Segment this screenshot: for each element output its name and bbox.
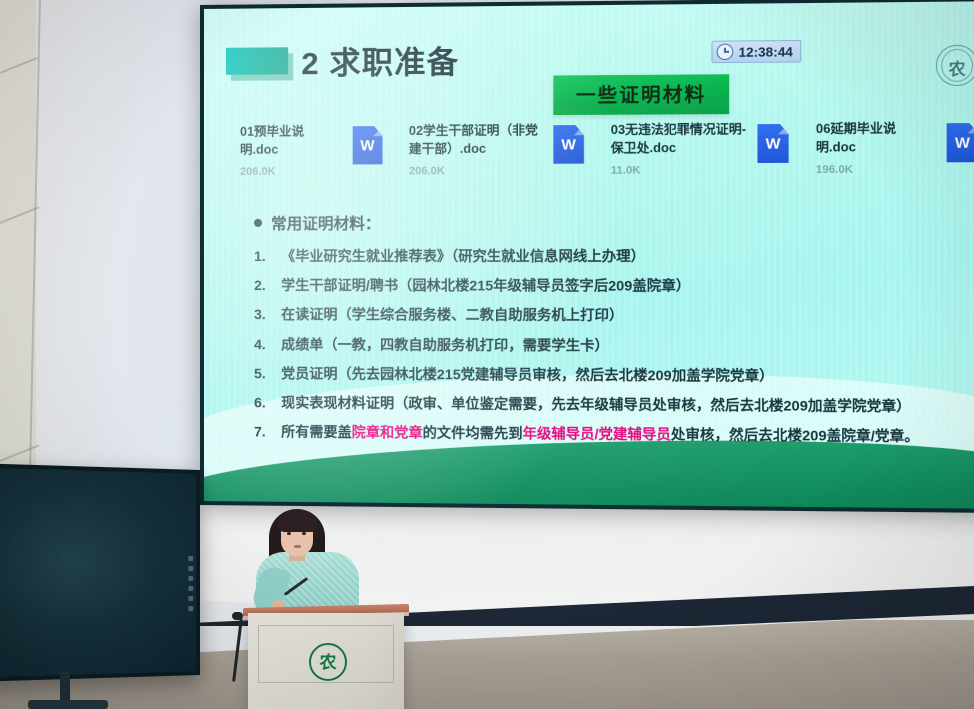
highlighted-text: 院章和党章	[352, 424, 423, 441]
list-item: 6. 现实表现材料证明（政审、单位鉴定需要，先去年级辅导员处审核，然后去北楼20…	[254, 393, 974, 416]
wall-panel-upper	[36, 0, 206, 540]
slide-title-row: 2 求职准备	[226, 37, 459, 84]
list-item: 7. 所有需要盖院章和党章的文件均需先到年级辅导员/党建辅导员处审核，然后去北楼…	[254, 422, 974, 446]
university-seal-glyph: 农	[941, 49, 973, 82]
word-doc-icon: W	[757, 124, 788, 163]
attachment-size: 196.0K	[816, 164, 936, 177]
list-item-number: 4.	[254, 335, 270, 353]
bullet-dot-icon	[254, 219, 262, 227]
list-item-text: 成绩单（一教，四教自助服务机打印，需要学生卡）	[281, 335, 609, 355]
list-item: 5. 党员证明（先去园林北楼215党建辅导员审核，然后去北楼209加盖学院党章）	[254, 364, 974, 386]
wall-monitor-screen	[0, 468, 196, 678]
word-doc-icon: W	[947, 123, 974, 162]
attachment-item[interactable]: 03无违法犯罪情况证明-保卫处.doc 11.0K W	[611, 116, 789, 177]
projection-screen: 2 求职准备 12:38:44 一些证明材料 农 01预毕业说明.doc	[200, 0, 974, 513]
section-number: 2	[301, 46, 319, 81]
university-seal-icon: 农	[936, 45, 974, 87]
attachment-name: 02学生干部证明（非党建干部）.doc	[409, 121, 543, 158]
presenter-fringe	[278, 510, 317, 532]
attachment-item[interactable]: 02学生干部证明（非党建干部）.doc 206.0K W	[409, 117, 584, 178]
list-item-text: 在读证明（学生综合服务楼、二教自助服务机上打印）	[281, 306, 623, 325]
section-banner: 一些证明材料	[553, 74, 729, 115]
word-doc-letter: W	[360, 137, 374, 154]
podium: 农	[248, 613, 404, 709]
list-item: 4. 成绩单（一教，四教自助服务机打印，需要学生卡）	[254, 335, 974, 356]
podium-university-seal-icon: 农	[309, 643, 347, 681]
presenter-eye	[287, 532, 291, 535]
list-item-number: 7.	[254, 422, 270, 440]
word-doc-icon: W	[553, 125, 584, 164]
list-item-number: 3.	[254, 305, 270, 323]
list-item: 1. 《毕业研究生就业推荐表》（研究生就业信息网线上办理）	[254, 247, 974, 266]
bullet-heading: 常用证明材料：	[254, 211, 974, 234]
list-item: 2. 学生干部证明/聘书（园林北楼215年级辅导员签字后209盖院章）	[254, 276, 974, 295]
list-item-text: 学生干部证明/聘书（园林北楼215年级辅导员签字后209盖院章）	[281, 276, 690, 295]
clock-time: 12:38:44	[739, 44, 793, 60]
attachment-name: 03无违法犯罪情况证明-保卫处.doc	[611, 120, 747, 158]
classroom-photo-scene: 2 求职准备 12:38:44 一些证明材料 农 01预毕业说明.doc	[0, 0, 974, 709]
list-item-text-run: 所有需要盖	[281, 424, 352, 441]
word-doc-letter: W	[955, 134, 970, 152]
monitor-base	[28, 700, 108, 709]
wall-monitor	[0, 463, 200, 681]
attachment-size: 11.0K	[611, 164, 747, 177]
list-item-text: 《毕业研究生就业推荐表》（研究生就业信息网线上办理）	[281, 247, 645, 266]
attachment-name: 06延期毕业说明.doc	[816, 119, 936, 157]
monitor-button-strip[interactable]	[188, 556, 193, 611]
list-item-text: 现实表现材料证明（政审、单位鉴定需要，先去年级辅导员处审核，然后去北楼209加盖…	[281, 393, 911, 415]
attachment-item[interactable]: 06延期毕业说明.doc 196.0K W	[816, 115, 974, 177]
page-title: 2 求职准备	[301, 37, 459, 84]
word-doc-letter: W	[561, 136, 576, 153]
list-item-number: 6.	[254, 393, 270, 411]
clock-widget[interactable]: 12:38:44	[711, 40, 801, 63]
clock-icon	[717, 44, 734, 60]
list-item-text: 所有需要盖院章和党章的文件均需先到年级辅导员/党建辅导员处审核，然后去北楼209…	[281, 423, 919, 446]
list-item-number: 1.	[254, 247, 270, 265]
list-item-text: 党员证明（先去园林北楼215党建辅导员审核，然后去北楼209加盖学院党章）	[281, 364, 774, 385]
attachment-size: 206.0K	[409, 165, 543, 178]
section-title: 求职准备	[329, 45, 459, 81]
list-item-text-run: 处审核，然后去北楼209盖院章/党章。	[671, 426, 919, 444]
presenter-mouth	[294, 545, 301, 548]
list-item-text-run: 的文件均需先到	[423, 425, 523, 442]
list-item-number: 2.	[254, 276, 270, 294]
word-doc-icon: W	[352, 126, 382, 164]
attachment-list: 01预毕业说明.doc 206.0K W 02学生干部证明（非党建干部）.doc…	[240, 115, 974, 178]
word-doc-letter: W	[766, 135, 781, 152]
bullet-heading-text: 常用证明材料：	[271, 212, 380, 234]
title-accent-block	[226, 47, 288, 75]
list-item-number: 5.	[254, 364, 270, 382]
slide-surface: 2 求职准备 12:38:44 一些证明材料 农 01预毕业说明.doc	[204, 1, 974, 509]
attachment-name: 01预毕业说明.doc	[240, 122, 342, 159]
list-item: 3. 在读证明（学生综合服务楼、二教自助服务机上打印）	[254, 305, 974, 325]
presenter-eye	[302, 532, 306, 535]
attachment-item[interactable]: 01预毕业说明.doc 206.0K W	[240, 118, 383, 178]
attachment-size: 206.0K	[240, 166, 342, 178]
slide-body: 常用证明材料： 1. 《毕业研究生就业推荐表》（研究生就业信息网线上办理） 2.…	[254, 211, 974, 458]
highlighted-text: 年级辅导员/党建辅导员	[523, 425, 671, 442]
